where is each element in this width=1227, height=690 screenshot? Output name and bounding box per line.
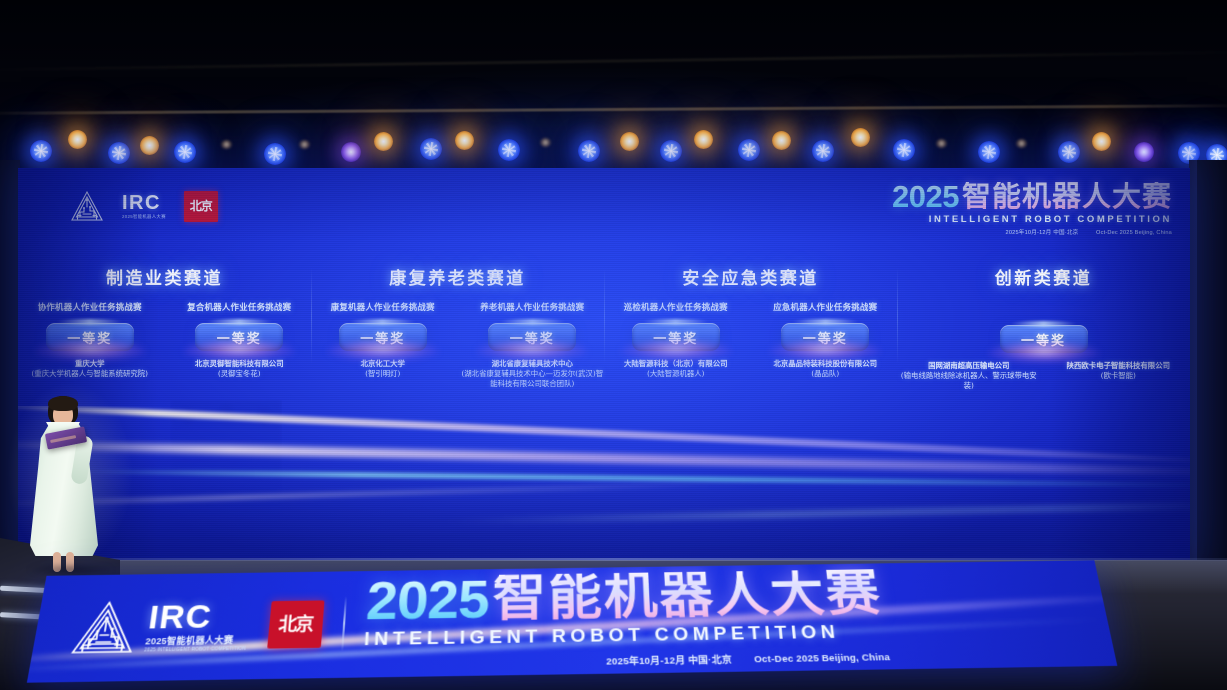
banner-date: 2025年10月-12月 中国·北京 Oct-Dec 2025 Beijing,…	[362, 649, 891, 671]
screen-silhouettes	[170, 400, 282, 518]
award-winner-team: (大陆智源机器人)	[624, 369, 727, 379]
award-badge-glow	[621, 341, 731, 361]
streak-cyan-3	[65, 469, 1190, 488]
award-badge-glow	[989, 343, 1099, 363]
award-badge-glow	[184, 341, 294, 361]
award-winner: 湖北省康复辅具技术中心(湖北省康复辅具技术中心—迈发尔(武汉)智能科技有限公司联…	[461, 359, 605, 390]
stage-light-dim-8	[299, 140, 310, 149]
stage-light-blue-5	[174, 141, 196, 163]
stage-light-blue-13	[498, 139, 520, 161]
award-entry: 陕西欧卡电子智能科技有限公司(欧卡智能)	[1047, 361, 1191, 392]
award-winner: 陕西欧卡电子智能科技有限公司(欧卡智能)	[1067, 361, 1170, 381]
banner-irc-triangle-logo-icon	[69, 599, 141, 655]
award-winner: 北京灵御智能科技有限公司(灵御宝冬花)	[195, 359, 284, 379]
stage-light-dim-14	[540, 138, 551, 147]
stage-light-blue-27	[1058, 141, 1080, 163]
stage-light-blue-23	[893, 139, 915, 161]
award-badge-glow	[770, 341, 880, 361]
wall-left	[0, 160, 20, 580]
banner-irc-sub-en: 2025 INTELLIGENT ROBOT COMPETITION	[144, 647, 246, 653]
award-entry: 康复机器人作业任务挑战赛一等奖北京化工大学(智引明灯)	[311, 301, 455, 390]
banner-irc-lockup: IRC 2025智能机器人大赛 2025 INTELLIGENT ROBOT C…	[69, 598, 251, 656]
stage-light-violet-29	[1134, 142, 1154, 162]
award-winner-team: (智引明灯)	[361, 369, 405, 379]
screen-title-year: 2025	[892, 182, 959, 211]
track-name: 养老机器人作业任务挑战赛	[480, 301, 584, 313]
track-name: 复合机器人作业任务挑战赛	[187, 301, 291, 313]
award-winner-team: (重庆大学机器人与智能系统研究院)	[31, 369, 148, 379]
award-entries: 巡检机器人作业任务挑战赛一等奖大陆智源科技（北京）有限公司(大陆智源机器人)应急…	[604, 301, 897, 379]
screen-light-streaks	[18, 406, 1190, 556]
screen-title-en: INTELLIGENT ROBOT COMPETITION	[892, 214, 1172, 225]
streak-warm-1	[18, 406, 1190, 466]
award-winner-name: 陕西欧卡电子智能科技有限公司	[1067, 361, 1170, 371]
award-column-title: 制造业类赛道	[106, 264, 223, 289]
screen-date-en: Oct-Dec 2025 Beijing, China	[1096, 230, 1172, 236]
stage-light-blue-17	[660, 140, 682, 162]
award-winner-team: (灵御宝冬花)	[195, 369, 284, 379]
award-entry: 国网湖南超高压输电公司(输电线路地线除冰机器人、警示球带电安装)	[897, 361, 1041, 392]
award-entries: 康复机器人作业任务挑战赛一等奖北京化工大学(智引明灯)养老机器人作业任务挑战赛一…	[311, 301, 604, 390]
stage-light-violet-9	[341, 142, 361, 162]
streak-faint-5	[440, 501, 1190, 524]
irc-triangle-logo-icon	[70, 190, 104, 222]
stage-light-blue-11	[420, 138, 442, 160]
streak-pink-2	[18, 439, 1190, 477]
award-column-2: 康复养老类赛道康复机器人作业任务挑战赛一等奖北京化工大学(智引明灯)养老机器人作…	[311, 264, 604, 392]
award-winner: 北京化工大学(智引明灯)	[361, 359, 405, 379]
irc-abbr: IRC	[122, 193, 166, 213]
award-badge-glow	[477, 341, 587, 361]
stage-light-warm-28	[1092, 132, 1111, 151]
award-column-3: 安全应急类赛道巡检机器人作业任务挑战赛一等奖大陆智源科技（北京）有限公司(大陆智…	[604, 264, 897, 392]
award-winner-name: 国网湖南超高压输电公司	[897, 361, 1041, 371]
award-entry: 协作机器人作业任务挑战赛一等奖重庆大学(重庆大学机器人与智能系统研究院)	[18, 301, 162, 379]
banner-irc-sub-cn: 2025智能机器人大赛	[145, 636, 248, 647]
presenter-host	[22, 396, 112, 576]
award-column-4: 创新类赛道一等奖国网湖南超高压输电公司(输电线路地线除冰机器人、警示球带电安装)…	[897, 264, 1190, 392]
award-column-title: 安全应急类赛道	[682, 264, 819, 289]
award-entry: 应急机器人作业任务挑战赛一等奖北京晶品特装科技股份有限公司(晶品队)	[754, 301, 898, 379]
screen-title-date: 2025年10月-12月 中国·北京 Oct-Dec 2025 Beijing,…	[892, 228, 1172, 236]
stage-light-dim-6	[221, 140, 232, 149]
stage-light-warm-12	[455, 131, 474, 150]
award-badge-wrap: 一等奖	[781, 323, 869, 351]
award-winner: 大陆智源科技（北京）有限公司(大陆智源机器人)	[624, 359, 727, 379]
screen-logo-row: IRC 2025智能机器人大赛 北京	[70, 190, 218, 222]
beijing-seal-logo: 北京	[184, 191, 218, 222]
presenter-hair-front	[48, 396, 78, 411]
award-badge-wrap: 一等奖	[488, 323, 576, 351]
streak-faint-4	[18, 481, 768, 508]
award-winner-team: (湖北省康复辅具技术中心—迈发尔(武汉)智能科技有限公司联合团队)	[461, 369, 605, 389]
track-name: 康复机器人作业任务挑战赛	[331, 301, 435, 313]
beijing-seal-text: 北京	[190, 201, 212, 211]
ceiling-truss	[0, 0, 1227, 172]
stage-light-warm-4	[140, 136, 159, 155]
award-entries: 国网湖南超高压输电公司(输电线路地线除冰机器人、警示球带电安装)陕西欧卡电子智能…	[897, 361, 1190, 392]
stage-light-warm-2	[68, 130, 87, 149]
award-badge-glow	[328, 341, 438, 361]
award-badge-wrap: 一等奖	[46, 323, 134, 351]
banner-title-year: 2025	[365, 575, 489, 626]
award-badge-wrap: 一等奖	[195, 323, 283, 351]
screen-date-cn: 2025年10月-12月 中国·北京	[1006, 230, 1079, 236]
stage-light-blue-19	[738, 139, 760, 161]
stage-light-dim-26	[1016, 139, 1027, 148]
award-entry: 复合机器人作业任务挑战赛一等奖北京灵御智能科技有限公司(灵御宝冬花)	[168, 301, 312, 379]
award-badge-wrap: 一等奖	[632, 323, 720, 351]
stage-light-warm-20	[772, 131, 791, 150]
screen-title-lockup: 2025 智能机器人大赛 INTELLIGENT ROBOT COMPETITI…	[892, 182, 1172, 236]
award-entry: 巡检机器人作业任务挑战赛一等奖大陆智源科技（北京）有限公司(大陆智源机器人)	[604, 301, 748, 379]
award-winner-team: (欧卡智能)	[1067, 371, 1170, 381]
banner-divider	[341, 596, 347, 651]
stage-light-warm-10	[374, 132, 393, 151]
award-column-1: 制造业类赛道协作机器人作业任务挑战赛一等奖重庆大学(重庆大学机器人与智能系统研究…	[18, 264, 311, 392]
banner-date-en: Oct-Dec 2025 Beijing, China	[754, 652, 891, 665]
irc-sub-cn: 2025智能机器人大赛	[122, 215, 166, 219]
banner-beijing-seal-text: 北京	[278, 617, 313, 632]
irc-wordmark: IRC 2025智能机器人大赛	[122, 193, 166, 220]
award-badge-wrap: 一等奖	[339, 323, 427, 351]
track-name: 巡检机器人作业任务挑战赛	[624, 301, 728, 313]
stage-light-warm-16	[620, 132, 639, 151]
track-name: 应急机器人作业任务挑战赛	[773, 301, 877, 313]
stage-light-blue-25	[978, 141, 1000, 163]
screen-title-cn: 智能机器人大赛	[962, 182, 1172, 211]
award-columns: 制造业类赛道协作机器人作业任务挑战赛一等奖重庆大学(重庆大学机器人与智能系统研究…	[18, 264, 1190, 392]
stage-photo: IRC 2025智能机器人大赛 北京 2025 智能机器人大赛 INTELLIG…	[0, 0, 1227, 690]
award-entries: 协作机器人作业任务挑战赛一等奖重庆大学(重庆大学机器人与智能系统研究院)复合机器…	[18, 301, 311, 379]
stage-light-blue-1	[30, 140, 52, 162]
stage-light-warm-18	[694, 130, 713, 149]
award-column-title: 创新类赛道	[995, 264, 1093, 289]
award-badge-glow	[35, 341, 145, 361]
award-winner: 国网湖南超高压输电公司(输电线路地线除冰机器人、警示球带电安装)	[897, 361, 1041, 392]
banner-date-cn: 2025年10月-12月 中国·北京	[606, 654, 732, 667]
award-winner-team: (输电线路地线除冰机器人、警示球带电安装)	[897, 371, 1041, 391]
led-screen: IRC 2025智能机器人大赛 北京 2025 智能机器人大赛 INTELLIG…	[18, 168, 1190, 566]
banner-title-lockup: 2025 智能机器人大赛 INTELLIGENT ROBOT COMPETITI…	[362, 569, 891, 671]
award-entry: 养老机器人作业任务挑战赛一等奖湖北省康复辅具技术中心(湖北省康复辅具技术中心—迈…	[461, 301, 605, 390]
banner-irc-abbr: IRC	[147, 599, 252, 634]
stage-light-blue-3	[108, 142, 130, 164]
stage-light-blue-7	[264, 143, 286, 165]
banner-title-cn: 智能机器人大赛	[492, 569, 884, 623]
stage-light-dim-24	[936, 139, 947, 148]
stage-front-banner: IRC 2025智能机器人大赛 2025 INTELLIGENT ROBOT C…	[27, 560, 1117, 682]
stage-light-blue-15	[578, 140, 600, 162]
banner-beijing-seal-logo: 北京	[267, 600, 324, 648]
award-column-title: 康复养老类赛道	[389, 264, 526, 289]
award-badge-wrap: 一等奖	[1000, 325, 1088, 353]
stage-light-blue-21	[812, 140, 834, 162]
award-winner: 重庆大学(重庆大学机器人与智能系统研究院)	[31, 359, 148, 379]
award-winner: 北京晶品特装科技股份有限公司(晶品队)	[774, 359, 877, 379]
award-winner-team: (晶品队)	[774, 369, 877, 379]
stage-light-warm-22	[851, 128, 870, 147]
track-name: 协作机器人作业任务挑战赛	[38, 301, 142, 313]
